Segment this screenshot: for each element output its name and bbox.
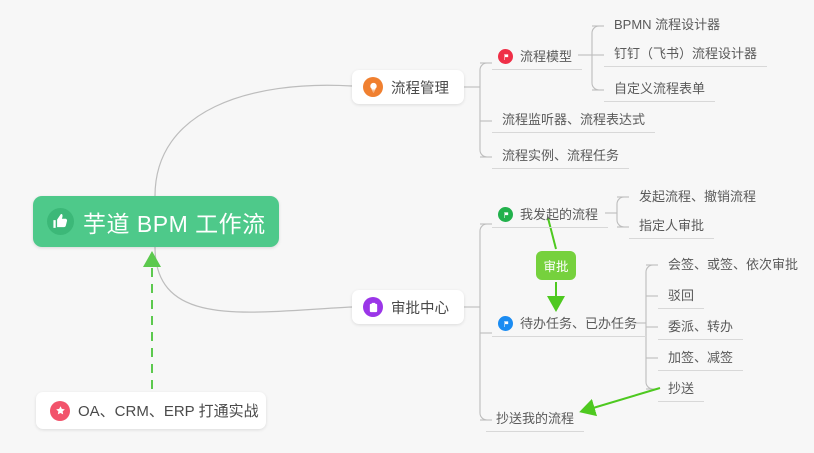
leaf-add-remove-sign[interactable]: 加签、减签 (658, 346, 743, 371)
root-label: 芋道 BPM 工作流 (83, 205, 266, 239)
leaf-start-cancel-process[interactable]: 发起流程、撤销流程 (629, 185, 766, 209)
leaf-process-instance[interactable]: 流程实例、流程任务 (492, 144, 629, 169)
clipboard-icon (363, 297, 383, 317)
branch-node-process-management[interactable]: 流程管理 (352, 70, 464, 104)
star-icon (50, 401, 70, 421)
floating-node-integration[interactable]: OA、CRM、ERP 打通实战 (36, 392, 266, 429)
leaf-cc[interactable]: 抄送 (658, 377, 704, 402)
leaf-designated-approver[interactable]: 指定人审批 (629, 214, 714, 239)
leaf-delegate-transfer[interactable]: 委派、转办 (658, 315, 743, 340)
approve-tag-label: 审批 (543, 256, 568, 275)
lightbulb-icon (363, 77, 383, 97)
edge-root-to-process-management (155, 85, 352, 196)
flag-icon (498, 316, 513, 331)
floating-node-label: OA、CRM、ERP 打通实战 (78, 400, 259, 421)
branch-label: 审批中心 (391, 297, 449, 318)
thumbs-up-icon (47, 208, 74, 235)
leaf-process-model[interactable]: 流程模型 (492, 45, 582, 70)
leaf-cc-to-me-processes[interactable]: 抄送我的流程 (486, 407, 584, 432)
flag-icon (498, 49, 513, 64)
leaf-custom-form[interactable]: 自定义流程表单 (604, 77, 715, 102)
approve-tag-node[interactable]: 审批 (536, 251, 576, 280)
leaf-reject[interactable]: 驳回 (658, 284, 704, 309)
edge-tasks-spine (646, 265, 653, 389)
edge-approval-center-spine (480, 224, 487, 420)
edge-root-to-approval-center (155, 247, 352, 312)
edge-my-started-spine (617, 197, 624, 227)
leaf-process-listener[interactable]: 流程监听器、流程表达式 (492, 108, 655, 133)
leaf-todo-done-tasks[interactable]: 待办任务、已办任务 (492, 312, 647, 337)
edge-process-management-spine (480, 63, 487, 157)
leaf-label: 待办任务、已办任务 (520, 315, 637, 332)
mindmap-canvas: 芋道 BPM 工作流 流程管理 流程模型 流程监听器、流程表达式 流程实例、流程… (0, 0, 814, 453)
branch-node-approval-center[interactable]: 审批中心 (352, 290, 464, 324)
arrow-cc-to-my-cc-process (583, 388, 660, 411)
edge-process-model-spine (592, 26, 599, 90)
flag-icon (498, 207, 513, 222)
leaf-countersign-modes[interactable]: 会签、或签、依次审批 (658, 253, 808, 277)
leaf-bpmn-designer[interactable]: BPMN 流程设计器 (604, 13, 730, 37)
leaf-label: 我发起的流程 (520, 206, 598, 223)
branch-label: 流程管理 (391, 77, 449, 98)
root-node[interactable]: 芋道 BPM 工作流 (33, 196, 279, 247)
leaf-dingtalk-designer[interactable]: 钉钉（飞书）流程设计器 (604, 42, 767, 67)
leaf-my-started-processes[interactable]: 我发起的流程 (492, 203, 608, 228)
leaf-label: 流程模型 (520, 48, 572, 65)
